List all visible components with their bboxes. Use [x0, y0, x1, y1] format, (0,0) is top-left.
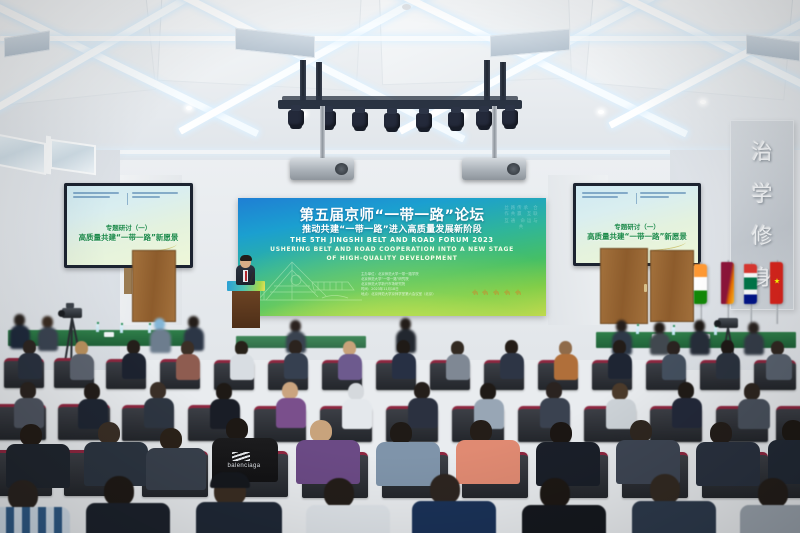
projector-mount-pole	[320, 106, 325, 161]
person-body	[446, 354, 470, 380]
water-bottle	[148, 325, 151, 333]
person-head	[235, 341, 248, 355]
person-body	[696, 442, 760, 486]
person-head	[324, 478, 354, 508]
person-body	[522, 505, 606, 533]
person-head	[451, 341, 464, 355]
person-head	[150, 382, 166, 399]
person-body	[376, 442, 440, 486]
person-body	[408, 398, 438, 428]
ceiling-downlight	[700, 100, 706, 104]
person-head	[216, 383, 232, 400]
person-body	[176, 354, 200, 380]
water-bottle	[636, 326, 639, 334]
camera-body	[718, 318, 738, 328]
person-body	[608, 353, 632, 379]
flag-vietnam	[770, 262, 783, 304]
wooden-door[interactable]	[650, 250, 694, 322]
person-head	[559, 341, 572, 355]
person-head	[630, 420, 652, 442]
person-body	[690, 331, 710, 355]
person-head	[613, 340, 626, 354]
person-body	[412, 501, 496, 533]
person-body	[306, 505, 390, 533]
water-bottle	[96, 324, 99, 332]
person-head	[104, 476, 134, 506]
person-head	[612, 383, 628, 400]
person-head	[505, 340, 518, 354]
session-label: 专题研讨（一）	[67, 222, 190, 232]
person-head	[310, 420, 332, 442]
person-body	[284, 353, 308, 379]
ceiling-downlight	[598, 110, 604, 114]
wall-calligraphy-panel: 治 学 修 身	[730, 120, 794, 310]
clerestory-window	[50, 139, 96, 175]
stage-light	[288, 110, 304, 127]
person-head	[782, 420, 800, 442]
person-body	[766, 354, 792, 380]
stage-light	[448, 112, 464, 129]
person-head	[390, 422, 412, 444]
conference-hall-photograph: 治 学 修 身	[0, 0, 800, 533]
person-body	[632, 501, 716, 533]
water-bottle	[120, 325, 123, 333]
person-head	[470, 420, 492, 442]
main-presentation-screen[interactable]: 第五届京师“一带一路”论坛 推动共建“一带一路”进入高质量发展新阶段 THE 5…	[238, 198, 546, 316]
camera-lens-icon	[714, 320, 721, 327]
person-body	[662, 354, 686, 380]
person-body	[500, 353, 524, 379]
flag-sri-lanka	[721, 262, 734, 304]
camera-lens-icon	[58, 310, 65, 317]
person-head	[343, 341, 356, 355]
screen-vertical-decorative-text: 丝路传承 合作共赢 互联互通 命运与共	[504, 206, 540, 232]
person-head	[8, 480, 38, 510]
person-head	[282, 382, 298, 399]
person-head	[667, 341, 680, 355]
person-head	[414, 382, 430, 399]
projector-mount-pole	[492, 106, 497, 161]
person-body	[456, 440, 520, 484]
info-line: 地点：北京师范大学京师学堂第六会议室（北京）	[361, 292, 481, 297]
ceiling-projector	[290, 158, 354, 180]
ceiling-led-strip	[0, 36, 800, 41]
person-body	[144, 398, 174, 428]
side-screen-header	[582, 192, 692, 206]
header-right-block	[132, 192, 184, 206]
header-right-block	[640, 192, 692, 206]
ceiling	[0, 0, 800, 170]
port-crane-line-art-icon	[252, 256, 364, 308]
wooden-door[interactable]	[600, 248, 648, 324]
person-head	[650, 474, 680, 504]
person-head	[181, 341, 194, 355]
forum-title-english-line3: OF HIGH-QUALITY DEVELOPMENT	[238, 255, 546, 262]
person-head	[744, 383, 760, 400]
person-body	[86, 503, 170, 533]
stage-light	[416, 113, 432, 130]
header-left-block	[582, 192, 634, 206]
forum-title-english-line2: USHERING BELT AND ROAD COOPERATION INTO …	[238, 246, 546, 253]
person-head	[758, 478, 788, 508]
person-body	[122, 353, 146, 379]
smoke-detector-icon	[402, 4, 411, 10]
person-head	[20, 382, 36, 399]
person-body	[150, 329, 171, 353]
speaker-tie	[245, 271, 247, 281]
podium	[232, 288, 260, 328]
person-head	[98, 422, 120, 444]
person-head	[397, 340, 410, 354]
person-head	[348, 383, 364, 400]
person-head	[678, 382, 694, 399]
forum-info-block: 主办单位：北京师范大学一带一路学院 北京师范大学“一带一路”研究院 北京师范大学…	[361, 272, 481, 297]
session-label: 专题研讨（一）	[576, 221, 698, 231]
person-body	[276, 398, 306, 428]
jacket-logo-icon	[232, 452, 250, 461]
door-handle-icon	[644, 284, 647, 292]
calligraphy-char: 治	[731, 131, 793, 173]
person-body	[554, 354, 578, 380]
water-bottle	[714, 327, 717, 335]
camera-body	[62, 308, 82, 318]
person-head	[710, 422, 732, 444]
person-head	[20, 424, 42, 446]
person-head	[480, 383, 496, 400]
person-body	[342, 399, 372, 429]
person-body	[230, 354, 254, 380]
side-screen-header	[73, 192, 184, 206]
jacket-brand-text: balenciaga	[224, 463, 264, 469]
person-body	[672, 398, 702, 428]
side-screen-mount	[124, 268, 132, 294]
calligraphy-char: 学	[731, 173, 793, 215]
person-head	[23, 340, 36, 354]
person-body	[146, 448, 206, 490]
person-head	[84, 383, 100, 400]
speaker-hair	[240, 255, 252, 261]
person-body	[744, 333, 764, 355]
person-body	[338, 354, 362, 380]
calligraphy-char: 身	[731, 257, 793, 299]
person-body	[740, 505, 800, 533]
person-body	[18, 353, 42, 379]
camera-viewfinder	[66, 303, 74, 308]
person-head	[289, 340, 302, 354]
person-body	[0, 507, 70, 533]
person-head	[540, 478, 570, 508]
person-head	[550, 422, 572, 444]
baseball-cap-icon	[210, 472, 250, 488]
person-body	[38, 327, 58, 351]
header-left-block	[73, 192, 125, 206]
person-head	[771, 341, 784, 355]
person-head	[546, 382, 562, 399]
person-body	[716, 353, 740, 379]
person-head	[430, 474, 460, 504]
flag-south-africa	[744, 264, 757, 304]
person-head	[127, 340, 140, 354]
header-divider	[127, 193, 128, 205]
forum-title-english-line1: THE 5TH JINGSHI BELT AND ROAD FORUM 2023	[238, 236, 546, 244]
person-body	[196, 502, 282, 533]
document-on-table	[104, 332, 114, 337]
person-head	[75, 341, 88, 355]
flag-india	[694, 264, 707, 304]
lighting-truss	[282, 96, 518, 101]
water-bottle	[672, 327, 675, 335]
forum-subtitle-chinese: 推动共建“一带一路”进入高质量发展新阶段	[238, 222, 546, 235]
person-body	[296, 440, 360, 484]
calligraphy-char: 修	[731, 215, 793, 257]
stage-light	[476, 111, 492, 128]
window-mullion	[46, 136, 51, 175]
stage-light	[502, 110, 518, 127]
stage-light	[384, 113, 400, 130]
person-head	[160, 428, 182, 450]
person-body	[738, 399, 770, 429]
ceiling-downlight	[186, 106, 192, 110]
person-body	[392, 353, 416, 379]
person-head	[721, 340, 734, 354]
ceiling-projector	[462, 158, 526, 180]
stage-light	[352, 112, 368, 129]
person-head	[226, 418, 248, 440]
wooden-door[interactable]	[132, 250, 176, 322]
person-body	[70, 354, 94, 380]
header-divider	[636, 193, 637, 205]
